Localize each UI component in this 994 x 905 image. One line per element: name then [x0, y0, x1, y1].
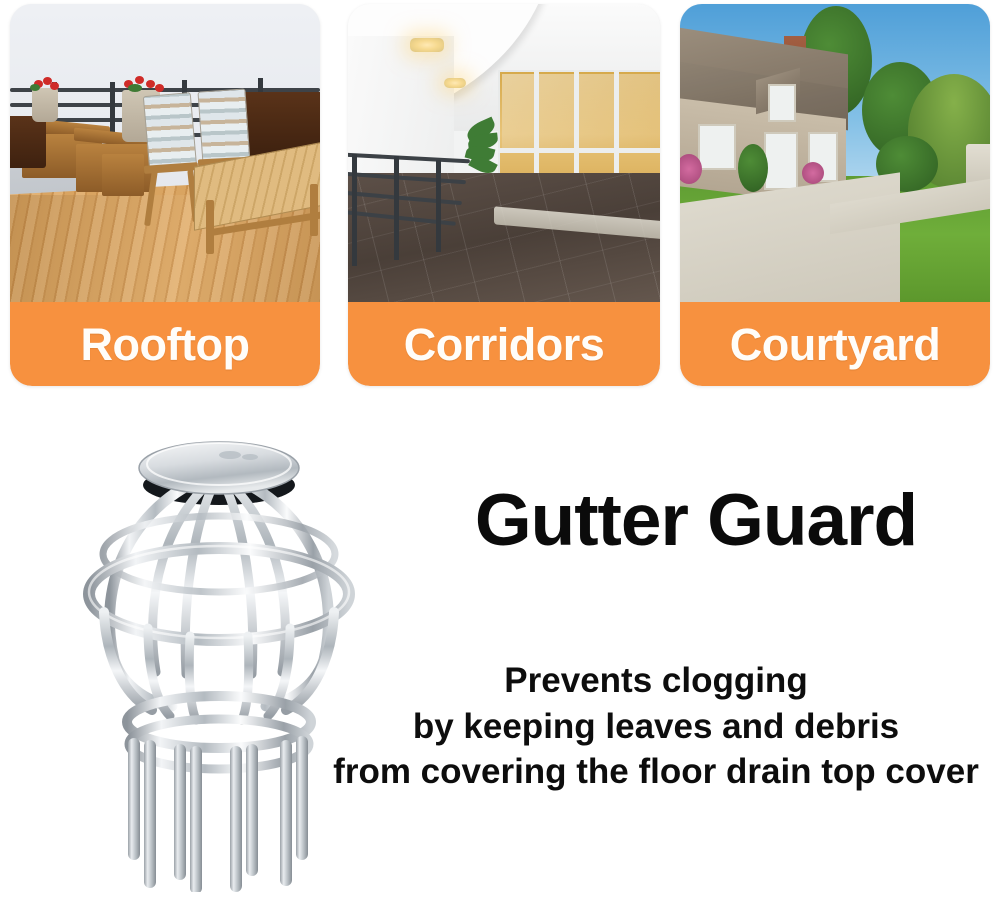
flower [155, 84, 164, 92]
tagline-line-1: Prevents clogging [318, 658, 994, 704]
chair-cushion [143, 92, 197, 172]
glass-pane [502, 74, 660, 150]
window-transom [498, 148, 660, 153]
panel-label-text: Corridors [404, 322, 605, 367]
scene-panel-rooftop[interactable]: Rooftop [10, 4, 320, 386]
foliage [128, 84, 142, 92]
flower [50, 82, 59, 90]
railing-post [436, 160, 441, 252]
product-title: Gutter Guard [398, 484, 994, 557]
scene-panel-courtyard[interactable]: Courtyard [680, 4, 990, 386]
tagline-line-3: from covering the floor drain top cover [318, 749, 994, 795]
tagline-line-2: by keeping leaves and debris [318, 704, 994, 750]
shrub [738, 144, 768, 192]
cap-emboss-mark [219, 451, 241, 459]
panel-label-text: Courtyard [730, 322, 941, 367]
french-door [764, 132, 798, 190]
railing-post [352, 154, 357, 266]
panel-label-rooftop: Rooftop [10, 302, 320, 386]
ceiling-light [444, 78, 466, 88]
foliage [30, 84, 40, 91]
gutter-guard-strainer-icon [44, 422, 394, 892]
flower-planter [32, 88, 58, 122]
panel-label-text: Rooftop [81, 322, 250, 367]
scene-panel-strip: Rooftop [0, 0, 994, 400]
railing-post [394, 156, 399, 260]
flowering-shrub [802, 162, 824, 184]
cap-emboss-mark [242, 454, 258, 460]
product-section: Gutter Guard Prevents clogging by keepin… [0, 400, 994, 905]
ceiling-light [410, 38, 444, 52]
bench-body [102, 154, 144, 196]
flower [135, 76, 144, 84]
rooftop-photo [10, 4, 320, 322]
chair-cushion [197, 88, 250, 165]
table-leg [206, 200, 214, 254]
product-copy: Gutter Guard Prevents clogging by keepin… [398, 400, 994, 905]
product-tagline: Prevents clogging by keeping leaves and … [318, 658, 994, 795]
table-leg [310, 184, 318, 236]
gutter-guard-product-image [44, 422, 394, 892]
flower [146, 80, 155, 88]
house-window [698, 124, 736, 170]
courtyard-photo [680, 4, 990, 322]
panel-label-courtyard: Courtyard [680, 302, 990, 386]
dark-cabinet [10, 116, 46, 168]
legs [128, 736, 308, 892]
dormer-window [768, 84, 796, 122]
scene-panel-corridors[interactable]: Corridors [348, 4, 660, 386]
panel-label-corridors: Corridors [348, 302, 660, 386]
corridor-photo [348, 4, 660, 322]
